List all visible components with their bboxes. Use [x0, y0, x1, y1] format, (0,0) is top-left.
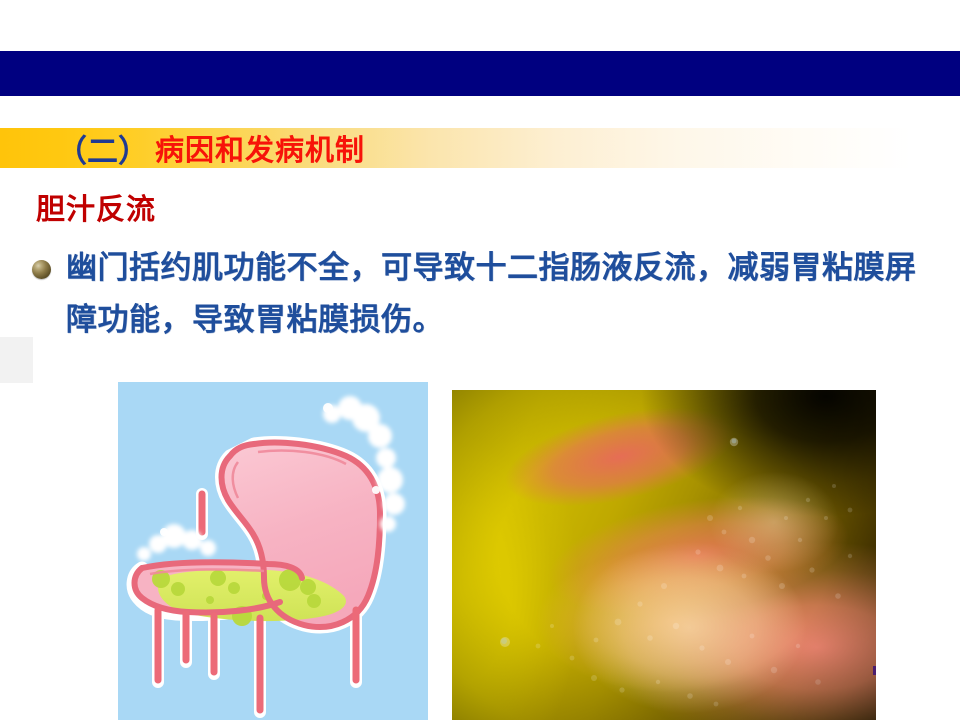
section-number: （二）: [56, 126, 149, 171]
sphere-bullet-icon: [32, 260, 51, 279]
subheading: 胆汁反流: [36, 186, 156, 228]
endoscopy-vignette: [452, 390, 876, 720]
stomach-bile-reflux-illustration: [118, 382, 428, 720]
slide-canvas: （二） 病因和发病机制 胆汁反流 幽门括约肌功能不全，可导致十二指肠液反流，减弱…: [0, 0, 960, 720]
navy-header-band: [0, 51, 960, 96]
section-title: （二） 病因和发病机制: [56, 125, 365, 171]
bullet-text: 幽门括约肌功能不全，可导致十二指肠液反流，减弱胃粘膜屏障功能，导致胃粘膜损伤。: [66, 242, 930, 346]
endoscopy-bile-stained-mucosa-photo: [452, 390, 876, 720]
stomach-illustration-svg: [118, 382, 428, 720]
section-title-text: 病因和发病机制: [155, 127, 365, 169]
edge-artifact-mark: [873, 666, 876, 675]
bullet-item: 幽门括约肌功能不全，可导致十二指肠液反流，减弱胃粘膜屏障功能，导致胃粘膜损伤。: [30, 242, 930, 346]
left-margin-grey-box: [0, 337, 33, 383]
